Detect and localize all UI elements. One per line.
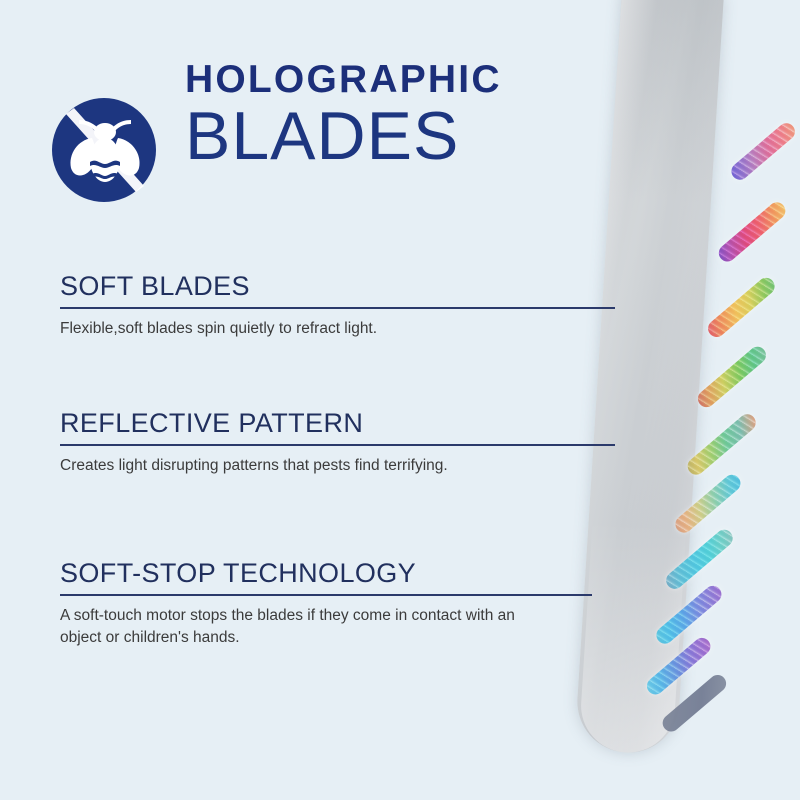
- holographic-stripe: [694, 343, 769, 410]
- holographic-stripe: [643, 634, 713, 697]
- holographic-stripe: [715, 199, 788, 265]
- blade-sheen: [574, 0, 724, 756]
- title-block: HOLOGRAPHIC BLADES: [185, 60, 555, 172]
- fly-prohibited-icon: [52, 98, 156, 202]
- feature-heading: REFLECTIVE PATTERN: [60, 409, 615, 439]
- feature-underline: [60, 444, 615, 446]
- feature-soft-blades: SOFT BLADES Flexible,soft blades spin qu…: [60, 272, 615, 340]
- feature-heading: SOFT-STOP TECHNOLOGY: [60, 559, 592, 589]
- feature-description: Flexible,soft blades spin quietly to ref…: [60, 318, 560, 340]
- feature-description: Creates light disrupting patterns that p…: [60, 455, 560, 477]
- feature-description: A soft-touch motor stops the blades if t…: [60, 605, 560, 650]
- holographic-stripe: [672, 471, 744, 536]
- feature-heading: SOFT BLADES: [60, 272, 615, 302]
- feature-reflective-pattern: REFLECTIVE PATTERN Creates light disrupt…: [60, 409, 615, 477]
- header: HOLOGRAPHIC BLADES: [0, 0, 560, 230]
- feature-underline: [60, 307, 615, 309]
- feature-soft-stop-technology: SOFT-STOP TECHNOLOGY A soft-touch motor …: [60, 559, 592, 650]
- product-image: [540, 0, 800, 800]
- page-title-primary: HOLOGRAPHIC: [185, 60, 555, 99]
- holographic-stripe: [684, 411, 759, 478]
- infographic-canvas: HOLOGRAPHIC BLADES SOFT BLADES Flexible,…: [0, 0, 800, 800]
- plain-stripe: [659, 671, 729, 734]
- holographic-stripe: [653, 582, 725, 647]
- feature-underline: [60, 594, 592, 596]
- blade-body: [574, 0, 724, 756]
- holographic-stripe: [663, 526, 736, 592]
- holographic-stripe: [728, 120, 798, 183]
- page-title-secondary: BLADES: [185, 101, 555, 172]
- blade-bottom-highlight: [578, 520, 686, 755]
- holographic-stripe: [705, 274, 778, 340]
- blade-top-shading: [609, 0, 724, 205]
